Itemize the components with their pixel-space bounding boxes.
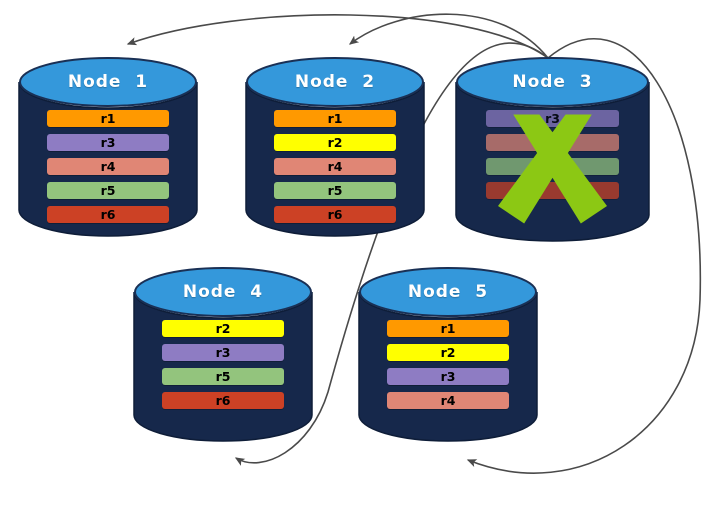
database-node-5[interactable]: Node 5r1r2r3r4 [358,266,538,441]
record-bar[interactable] [486,158,619,175]
record-bar[interactable]: r2 [387,344,509,361]
record-list: r2r3r5r6 [133,320,313,416]
database-node-1[interactable]: Node 1r1r3r4r5r6 [18,56,198,236]
record-bar[interactable]: r3 [162,344,284,361]
node-title: Node 3 [455,72,650,92]
node-title: Node 2 [245,72,425,92]
record-list: r3 [455,110,650,206]
node-title: Node 5 [358,282,538,302]
node-title: Node 4 [133,282,313,302]
record-bar[interactable]: r1 [47,110,169,127]
record-bar[interactable]: r6 [47,206,169,223]
record-list: r1r2r3r4 [358,320,538,416]
database-node-3[interactable]: Node 3r3 [455,56,650,241]
record-bar[interactable]: r2 [274,134,396,151]
record-bar[interactable]: r5 [274,182,396,199]
record-bar[interactable]: r2 [162,320,284,337]
edge-node3-to-node2 [350,14,548,58]
record-bar[interactable]: r1 [387,320,509,337]
record-bar[interactable]: r6 [274,206,396,223]
record-list: r1r2r4r5r6 [245,110,425,230]
record-bar[interactable]: r3 [486,110,619,127]
record-bar[interactable]: r3 [47,134,169,151]
record-bar[interactable] [486,134,619,151]
edge-node3-to-node1 [128,15,548,58]
replication-diagram: Node 1r1r3r4r5r6Node 2r1r2r4r5r6Node 3r3… [0,0,708,508]
record-bar[interactable]: r4 [274,158,396,175]
record-bar[interactable]: r5 [47,182,169,199]
record-bar[interactable]: r5 [162,368,284,385]
record-bar[interactable] [486,182,619,199]
database-node-4[interactable]: Node 4r2r3r5r6 [133,266,313,441]
node-title: Node 1 [18,72,198,92]
record-bar[interactable]: r3 [387,368,509,385]
record-bar[interactable]: r4 [387,392,509,409]
record-list: r1r3r4r5r6 [18,110,198,230]
record-bar[interactable]: r1 [274,110,396,127]
record-bar[interactable]: r6 [162,392,284,409]
database-node-2[interactable]: Node 2r1r2r4r5r6 [245,56,425,236]
record-bar[interactable]: r4 [47,158,169,175]
